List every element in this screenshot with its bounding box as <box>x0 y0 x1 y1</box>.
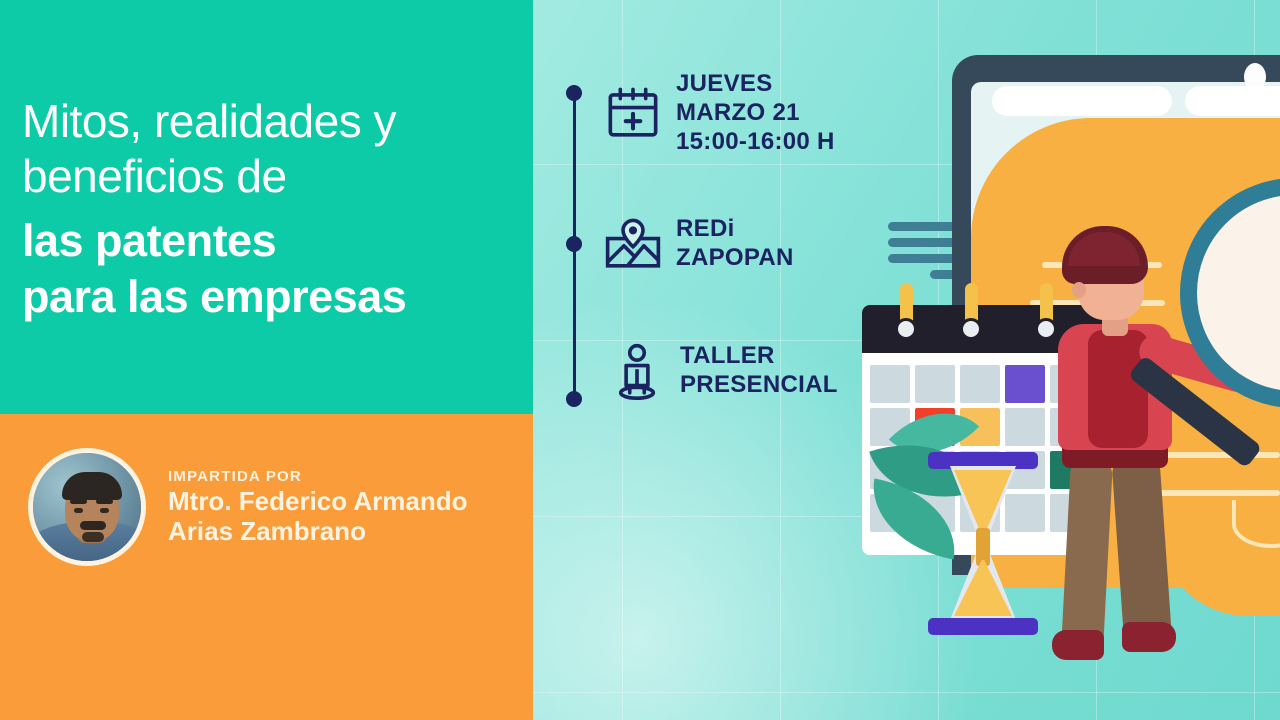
speaker-name-line-2: Arias Zambrano <box>168 517 468 546</box>
title-panel: Mitos, realidades y beneficios de las pa… <box>0 0 533 414</box>
avatar <box>28 448 146 566</box>
detail-line-2: ZAPOPAN <box>676 244 794 273</box>
person-shoe <box>1122 622 1176 652</box>
event-poster: Mitos, realidades y beneficios de las pa… <box>0 0 1280 720</box>
detail-item-date: JUEVES MARZO 21 15:00-16:00 H <box>604 70 835 156</box>
map-pin-icon <box>604 215 662 273</box>
title-line-1: Mitos, realidades y <box>22 95 522 148</box>
detail-text-modality: TALLER PRESENCIAL <box>680 342 838 400</box>
detail-line-2: MARZO 21 <box>676 99 835 128</box>
title-line-3: las patentes <box>22 215 522 267</box>
title-line-4: para las empresas <box>22 271 522 323</box>
detail-line-1: TALLER <box>680 342 838 371</box>
illustration <box>840 0 1280 720</box>
browser-tab-1 <box>992 86 1172 116</box>
timeline <box>570 88 578 408</box>
detail-text-date: JUEVES MARZO 21 15:00-16:00 H <box>676 70 835 156</box>
calendar-plus-icon <box>604 84 662 142</box>
detail-line-1: JUEVES <box>676 70 835 99</box>
timeline-dot <box>566 85 582 101</box>
timeline-dot <box>566 236 582 252</box>
speaker-label: IMPARTIDA POR <box>168 468 468 485</box>
detail-line-1: REDi <box>676 215 794 244</box>
timeline-dot <box>566 391 582 407</box>
person-leg <box>1061 459 1113 651</box>
calendar-eyelet <box>1035 318 1057 340</box>
document-text-line <box>1156 490 1280 496</box>
document-text-line <box>1150 452 1280 458</box>
detail-text-location: REDi ZAPOPAN <box>676 215 794 273</box>
detail-line-2: PRESENCIAL <box>680 371 838 400</box>
person-shoe <box>1052 630 1104 660</box>
standing-person-icon <box>608 342 666 400</box>
detail-item-location: REDi ZAPOPAN <box>604 215 794 273</box>
speaker-block: IMPARTIDA POR Mtro. Federico Armando Ari… <box>28 448 468 566</box>
speaker-name-line-1: Mtro. Federico Armando <box>168 487 468 516</box>
detail-line-3: 15:00-16:00 H <box>676 128 835 157</box>
calendar-eyelet <box>960 318 982 340</box>
person-ear <box>1072 282 1086 298</box>
browser-tab-2 <box>1185 86 1280 116</box>
title-line-2: beneficios de <box>22 150 522 203</box>
page-title: Mitos, realidades y beneficios de las pa… <box>22 95 522 322</box>
hourglass-cap <box>928 618 1038 635</box>
detail-item-modality: TALLER PRESENCIAL <box>608 342 838 400</box>
calendar-eyelet <box>895 318 917 340</box>
